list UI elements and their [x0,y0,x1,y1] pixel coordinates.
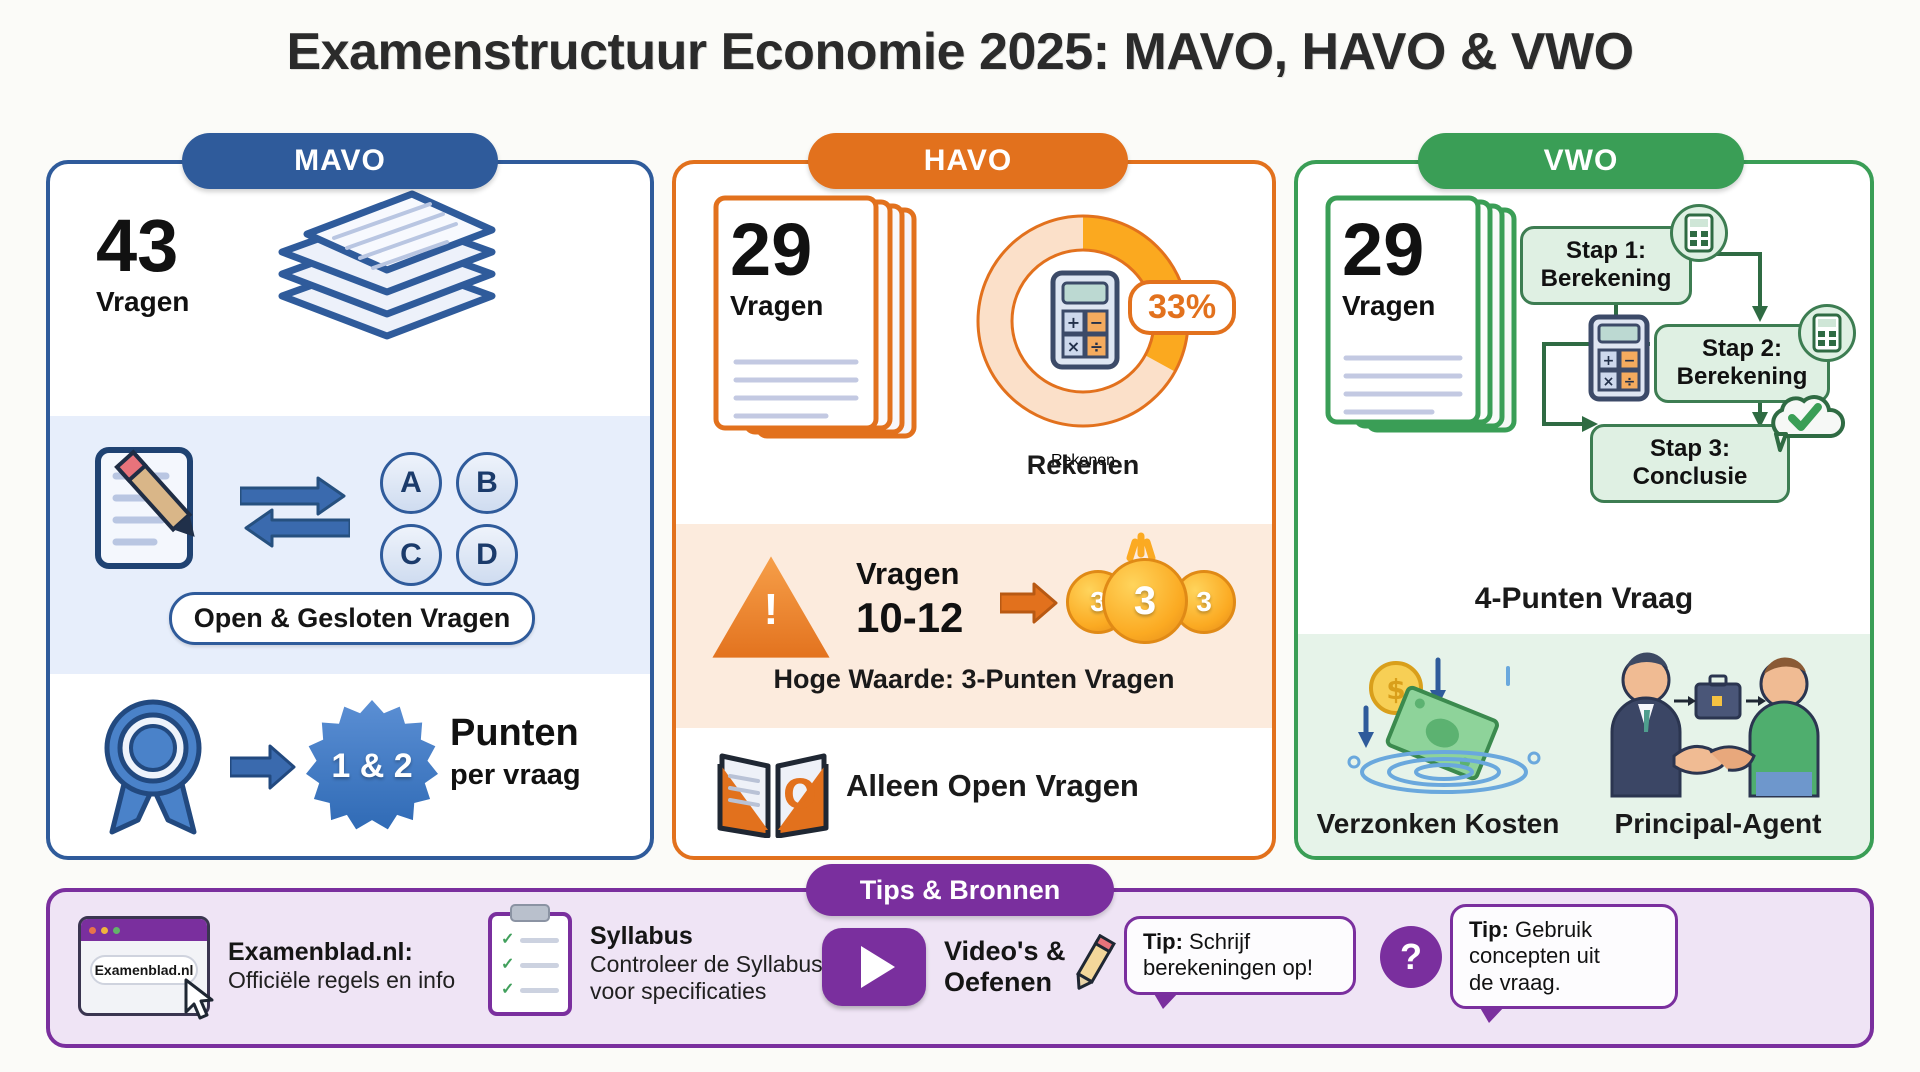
footer-item-examenblad[interactable]: Examenblad.nl Examenblad.nl: Officiële r… [78,916,455,1016]
column-header-havo: HAVO [808,133,1128,189]
play-triangle [861,946,895,988]
calculator-icon: +− ×÷ [1588,314,1650,407]
column-header-mavo: MAVO [182,133,498,189]
tip-2-line1: Gebruik [1509,917,1592,942]
footer-syllabus-sub2: voor specificaties [590,978,823,1006]
open-gesloten-vragen-chip: Open & Gesloten Vragen [169,592,536,645]
infographic-root: Examenstructuur Economie 2025: MAVO, HAV… [0,0,1920,1072]
footer-examenblad-text: Examenblad.nl: Officiële regels en info [228,938,455,994]
check-icon: ✓ [501,932,514,948]
svg-text:+: + [1067,313,1080,332]
column-header-vwo: VWO [1418,133,1744,189]
answer-option-b[interactable]: B [456,452,518,514]
havo-count-block: 29 Vragen [730,216,823,322]
answer-option-a[interactable]: A [380,452,442,514]
handshake-briefcase-icon [1590,644,1826,809]
mouse-cursor-icon [182,978,216,1022]
calculator-icon [1670,204,1728,262]
document-pencil-icon [92,442,210,579]
clipboard-clamp [510,904,550,922]
principal-agent-label: Principal-Agent [1578,808,1858,840]
tip-2-line3: de vraag. [1469,970,1659,996]
footer-examenblad-subtitle: Officiële regels en info [228,967,455,995]
alleen-open-vragen-label: Alleen Open Vragen [846,768,1139,804]
svg-text:×: × [1603,374,1615,390]
footer-examenblad-title: Examenblad.nl: [228,938,455,967]
checklist-row: ✓ [501,982,559,998]
tip-bubble-2: Tip: Gebruik concepten uit de vraag. [1450,904,1678,1009]
column-card-mavo: 43 Vragen [46,160,654,860]
bidirectional-arrows-icon [240,476,350,553]
havo-vragen-range: Vragen 10-12 [856,556,963,642]
step-2-line2: Berekening [1673,363,1811,391]
answer-option-c[interactable]: C [380,524,442,586]
checklist-row: ✓ [501,932,559,948]
check-cloud-icon [1760,390,1846,467]
footer-header-pill: Tips & Bronnen [806,864,1114,916]
havo-count: 29 [730,216,823,284]
step-3-line2: Conclusie [1609,463,1771,491]
mavo-chip-wrap: Open & Gesloten Vragen [92,592,612,645]
points-burst-badge: 1 & 2 [306,700,438,832]
footer-tip-2: ? Tip: Gebruik concepten uit de vraag. [1380,904,1678,1009]
points-burst-label: 1 & 2 [331,747,412,786]
footer-videos-line1: Video's & [944,936,1065,967]
hoge-waarde-caption: Hoge Waarde: 3-Punten Vragen [676,664,1272,695]
flow-step-1: Stap 1: Berekening [1520,226,1692,305]
vwo-count-label: Vragen [1342,290,1435,322]
pencil-icon [1070,934,1116,994]
clipboard-checklist-icon: ✓ ✓ ✓ [488,912,572,1016]
column-card-havo: 29 Vragen +− [672,160,1276,860]
browser-titlebar [81,919,207,941]
svg-text:÷: ÷ [1624,374,1636,390]
svg-text:O: O [783,772,817,818]
answer-option-d[interactable]: D [456,524,518,586]
footer-syllabus-sub1: Controleer de Syllabus [590,951,823,979]
vwo-count: 29 [1342,216,1435,284]
step-3-line1: Stap 3: [1609,435,1771,463]
step-2-line1: Stap 2: [1673,335,1811,363]
coin-center: 3 [1102,558,1188,644]
footer-syllabus-text: Syllabus Controleer de Syllabus voor spe… [590,922,823,1006]
vragen-label: Vragen [856,556,963,592]
browser-dot-red [89,927,96,934]
tip-2-line2: concepten uit [1469,943,1659,969]
browser-dot-green [113,927,120,934]
answer-options: A B C D [380,452,518,586]
tip-1-line2: berekeningen op! [1143,955,1337,981]
havo-count-label: Vragen [730,290,823,322]
browser-dot-yellow [101,927,108,934]
paper-stack-icon [262,186,512,401]
calculator-icon: +− ×÷ [1050,270,1120,375]
question-mark-icon: ? [1380,926,1442,988]
vier-punten-vraag-caption: 4-Punten Vraag [1298,582,1870,616]
checklist-row: ✓ [501,957,559,973]
tip-bubble-1: Tip: Schrijf berekeningen op! [1124,916,1356,995]
open-book-icon: O [714,742,832,843]
vragen-range: 10-12 [856,594,963,642]
svg-text:÷: ÷ [1090,337,1103,356]
award-ribbon-icon [92,696,214,841]
arrow-right-icon [230,744,296,795]
footer-item-videos[interactable]: Video's & Oefenen [822,928,1065,1006]
vwo-count-block: 29 Vragen [1342,216,1435,322]
arrow-right-icon [1000,582,1058,629]
svg-text:×: × [1067,337,1080,356]
footer-videos-line2: Oefenen [944,967,1065,998]
donut-percent-badge: 33% [1128,280,1236,335]
step-1-line1: Stap 1: [1539,237,1673,265]
mavo-count-label: Vragen [96,286,189,318]
calculator-icon [1798,304,1856,362]
punten-label: Punten [450,712,581,755]
per-vraag-label: per vraag [450,759,581,792]
verzonken-kosten-label: Verzonken Kosten [1308,808,1568,840]
step-1-line2: Berekening [1539,265,1673,293]
check-icon: ✓ [501,957,514,973]
svg-text:−: − [1090,313,1103,332]
footer-syllabus-title: Syllabus [590,922,823,951]
mavo-points-text: Punten per vraag [450,712,581,792]
rekenen-label: Rekenen [958,450,1208,481]
tip-1-line1: Schrijf [1183,929,1250,954]
footer-item-syllabus[interactable]: ✓ ✓ ✓ Syllabus Controleer de Syllabus vo… [488,912,823,1016]
page-title: Examenstructuur Economie 2025: MAVO, HAV… [0,22,1920,82]
check-icon: ✓ [501,982,514,998]
tip-2-prefix: Tip: [1469,917,1509,942]
footer-tip-1: Tip: Schrijf berekeningen op! [1070,916,1356,995]
footer-videos-text: Video's & Oefenen [944,936,1065,998]
mavo-count-block: 43 Vragen [96,212,189,318]
money-sinking-icon: $ [1332,650,1552,805]
mavo-count: 43 [96,212,189,280]
play-button-icon[interactable] [822,928,926,1006]
svg-text:−: − [1624,353,1636,369]
tip-1-prefix: Tip: [1143,929,1183,954]
svg-text:+: + [1603,353,1615,369]
column-card-vwo: 29 Vragen Stap 1: Berekening [1294,160,1874,860]
